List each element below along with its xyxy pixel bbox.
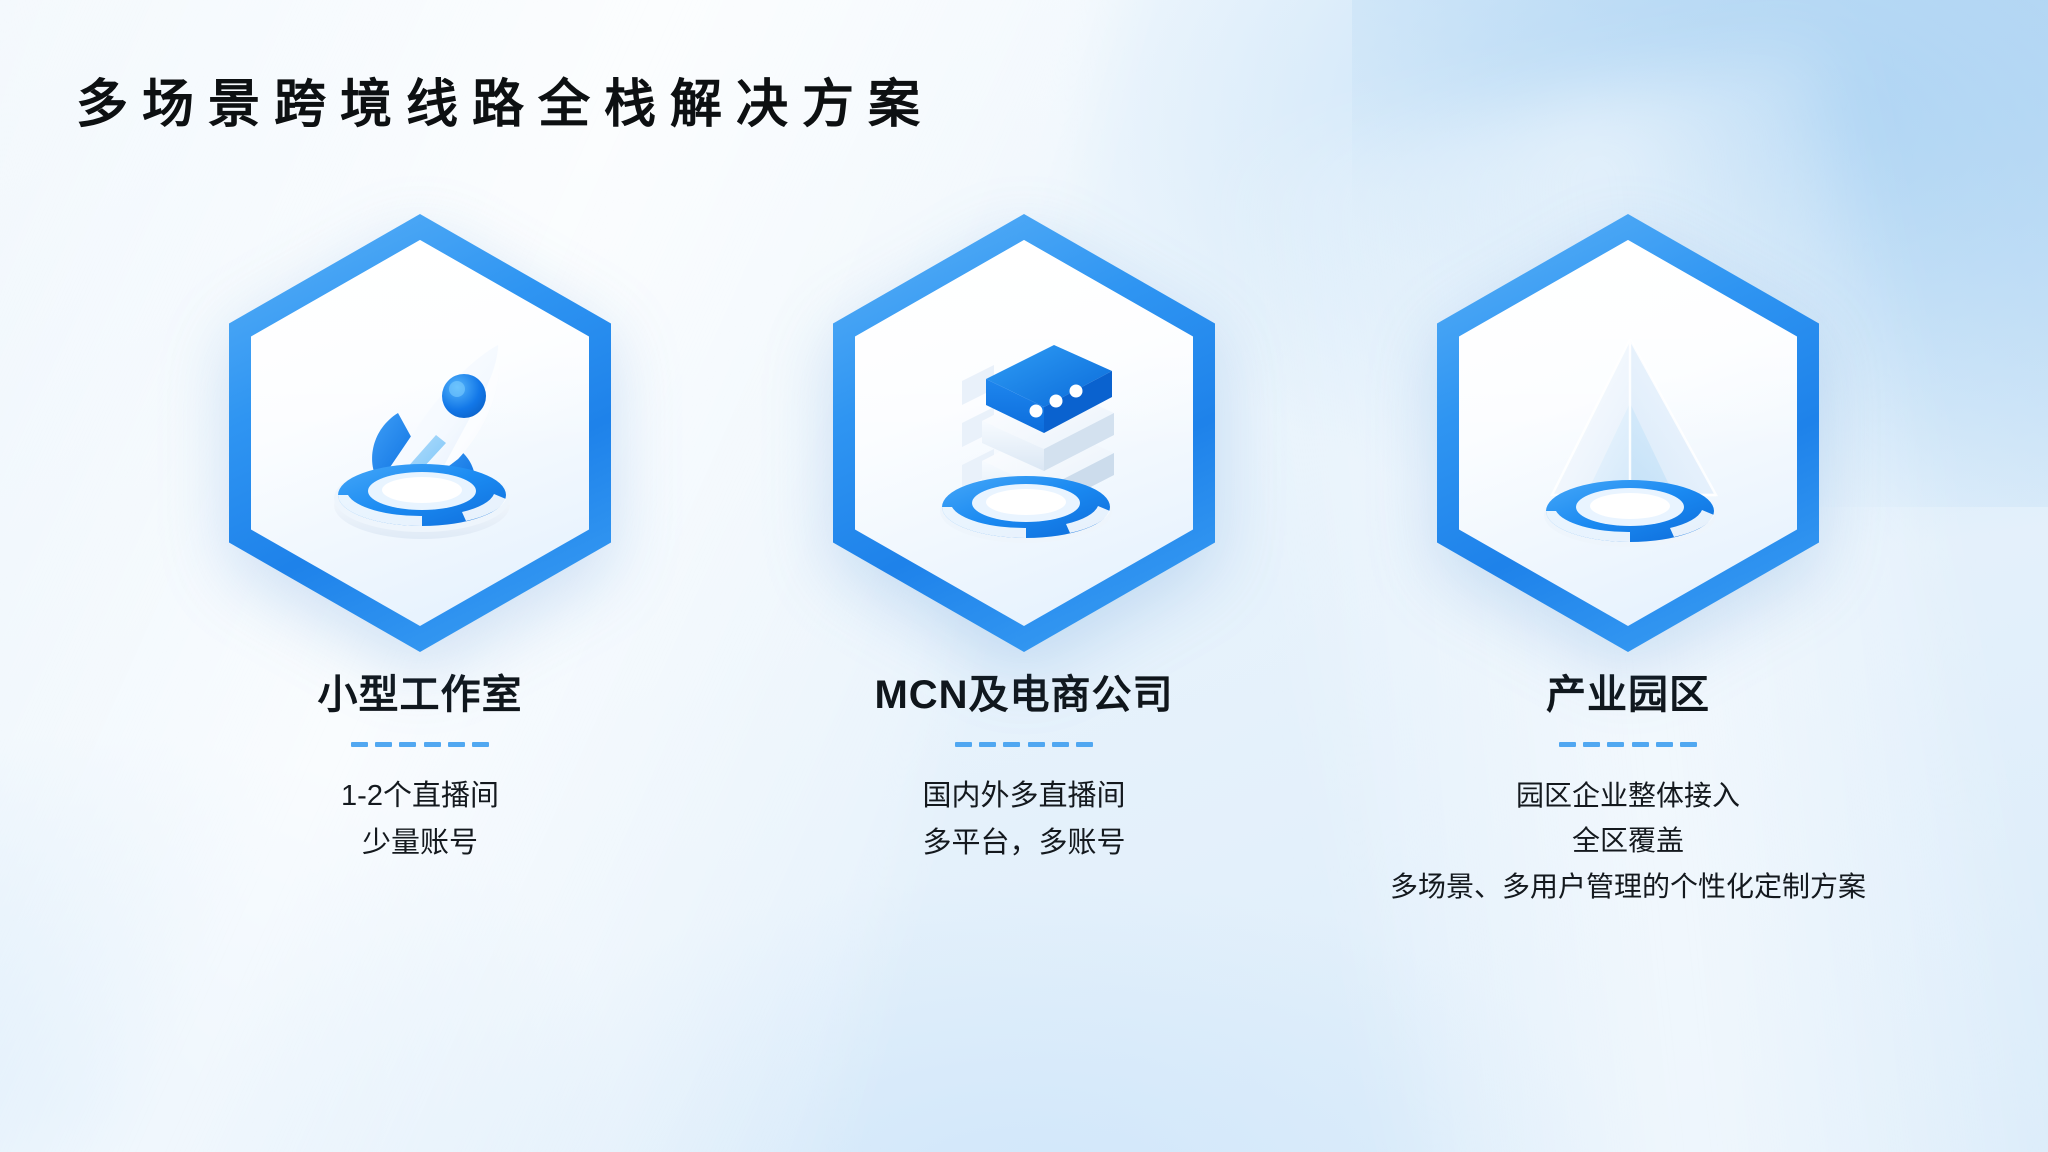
glass-pyramid-icon: [1478, 283, 1778, 583]
card-description: 1-2个直播间 少量账号: [341, 773, 499, 867]
card-line: 园区企业整体接入: [1390, 773, 1866, 818]
solution-card-industrial-park[interactable]: 产业园区 园区企业整体接入 全区覆盖 多场景、多用户管理的个性化定制方案: [1326, 214, 1930, 909]
card-divider: [1559, 742, 1697, 747]
rocket-icon: [270, 283, 570, 583]
card-line: 少量账号: [341, 820, 499, 867]
card-divider: [351, 742, 489, 747]
card-title: MCN及电商公司: [874, 662, 1173, 720]
card-divider: [955, 742, 1093, 747]
card-line: 多场景、多用户管理的个性化定制方案: [1390, 864, 1866, 909]
card-description: 国内外多直播间 多平台，多账号: [922, 773, 1125, 867]
card-line: 国内外多直播间: [922, 773, 1125, 820]
card-line: 全区覆盖: [1390, 818, 1866, 863]
card-line: 1-2个直播间: [341, 773, 499, 820]
card-description: 园区企业整体接入 全区覆盖 多场景、多用户管理的个性化定制方案: [1390, 773, 1866, 909]
page-title: 多场景跨境线路全栈解决方案: [76, 62, 934, 137]
solution-card-small-studio[interactable]: 小型工作室 1-2个直播间 少量账号: [118, 214, 722, 867]
hexagon-badge: [833, 214, 1215, 652]
hexagon-badge: [1437, 214, 1819, 652]
server-stack-icon: [874, 283, 1174, 583]
hexagon-badge: [229, 214, 611, 652]
card-title: 产业园区: [1546, 662, 1710, 720]
card-line: 多平台，多账号: [922, 820, 1125, 867]
card-title: 小型工作室: [318, 662, 523, 720]
solution-card-row: 小型工作室 1-2个直播间 少量账号: [0, 214, 2048, 909]
solution-card-mcn-ecommerce[interactable]: MCN及电商公司 国内外多直播间 多平台，多账号: [722, 214, 1326, 867]
